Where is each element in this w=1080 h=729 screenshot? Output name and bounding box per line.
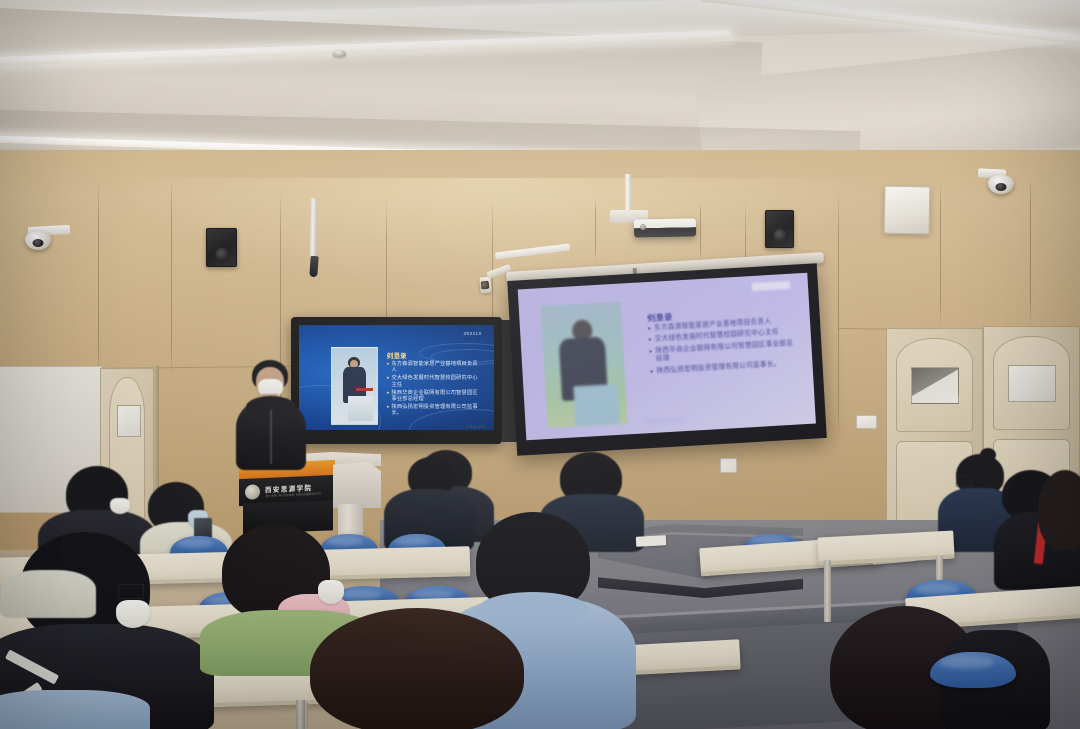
tv-slide-bullet-text: 陕西弘扬宏明投资管理有限公司监事长。 <box>392 404 483 416</box>
door-window <box>911 367 959 404</box>
eyeglasses-icon <box>118 584 144 599</box>
tv-slide-bullet-text: 陕西华商企业联网有限公司智慧园区事业部总经理 <box>392 390 483 402</box>
eyeglasses-icon <box>956 476 972 487</box>
projector-lens-icon <box>640 224 646 230</box>
audience-person <box>1030 470 1080 590</box>
person-face-mask <box>318 580 344 604</box>
tv-slide-bullet: ▸ 东方森源智能家居产业基地项目负责人 <box>387 361 483 373</box>
tv-slide-bullet-list: ▸ 刘垦录 ▸ 东方森源智能家居产业基地项目负责人 ▸ 交大绿色发展时代智慧校园… <box>387 353 483 419</box>
wall-seam <box>1030 176 1031 326</box>
person-hair <box>1038 470 1080 550</box>
bullet-marker-icon: ▸ <box>648 325 651 334</box>
bullet-marker-icon: ▸ <box>387 404 390 416</box>
person-face-mask <box>116 600 150 628</box>
chair-pedestal <box>296 700 305 729</box>
speaker-cone-icon <box>215 248 228 261</box>
tv-slide-bullet-text: 交大绿色发展时代智慧校园研究中心主任 <box>392 375 483 387</box>
tv-slide-bullet: ▸ 交大绿色发展时代智慧校园研究中心主任 <box>387 375 483 387</box>
tv-slide-bullet-text: 东方森源智能家居产业基地项目负责人 <box>392 361 483 373</box>
projected-photo <box>541 302 628 428</box>
bullet-marker-icon: ▸ <box>649 348 653 365</box>
tv-slide-heading-item: ▸ 刘垦录 <box>387 353 483 359</box>
projection-screen: ▸ 刘垦录 ▸ 东方森源智能家居产业基地项目负责人 ▸ 交大绿色发展时代智慧校园… <box>507 263 827 456</box>
projected-podium <box>573 384 619 426</box>
tv-screen: 20211X ▸ 刘垦录 ▸ 东方森源智能家居产业基地项目负责人 <box>299 325 494 430</box>
audience-person <box>0 690 140 729</box>
paper-sheet[interactable] <box>636 535 666 547</box>
door-window <box>1008 365 1056 402</box>
chair-highlight <box>915 584 960 595</box>
bullet-camera-icon <box>479 276 492 293</box>
camera-lens-icon <box>996 183 1007 191</box>
bullet-marker-icon: ▸ <box>387 361 390 373</box>
person-top <box>0 690 150 729</box>
smoke-detector-icon <box>333 50 346 57</box>
tv-slide-corner-label: 20211X <box>464 331 483 336</box>
wall-seam <box>171 178 172 378</box>
bullet-marker-icon: ▸ <box>650 367 653 376</box>
audience-person <box>310 608 530 729</box>
wall-seam <box>940 182 941 327</box>
photo-podium-accent <box>356 388 373 391</box>
speaker-cone-icon <box>773 229 786 242</box>
door-window <box>117 405 141 437</box>
audience-person <box>0 556 96 616</box>
wall-speaker-right-icon <box>765 210 794 248</box>
interactive-flat-panel[interactable]: 20211X ▸ 刘垦录 ▸ 东方森源智能家居产业基地项目负责人 <box>291 317 502 444</box>
projected-heading: 刘垦录 <box>647 313 672 323</box>
wall-speaker-left-icon <box>206 228 237 267</box>
chair[interactable] <box>930 652 1016 688</box>
university-seal-icon <box>245 484 260 500</box>
bullet-marker-icon: ▸ <box>387 390 390 402</box>
projected-corner-label <box>752 281 790 291</box>
presenter-zip-line <box>270 410 272 464</box>
tv-slide-heading: 刘垦录 <box>387 353 407 360</box>
tv-slide-photo <box>331 347 378 425</box>
person-hair-bun <box>980 448 996 462</box>
camera-lens-icon <box>33 239 44 247</box>
wall-control-box-icon[interactable] <box>884 186 931 235</box>
tv-brand-label: SEEWO <box>466 424 486 429</box>
microphone-drop-pole <box>309 198 317 258</box>
wall-seam <box>700 202 701 260</box>
lectern-right-body <box>333 462 381 508</box>
bullet-marker-icon: ▸ <box>649 336 652 345</box>
projected-footer-bar <box>643 416 683 425</box>
projected-bullet-list: ▸ 刘垦录 ▸ 东方森源智能家居产业基地项目负责人 ▸ 交大绿色发展时代智慧校园… <box>647 306 797 379</box>
microphone-head-icon <box>309 256 318 278</box>
person-hair <box>310 608 524 729</box>
person-face-mask <box>110 498 130 514</box>
wall-seam <box>595 200 596 260</box>
photo-podium <box>348 396 373 421</box>
chair-highlight <box>395 537 431 546</box>
tv-slide-bullet: ▸ 陕西华商企业联网有限公司智慧园区事业部总经理 <box>387 390 483 402</box>
tv-slide-bullet: ▸ 陕西弘扬宏明投资管理有限公司监事长。 <box>387 404 483 416</box>
presenter <box>228 360 314 470</box>
wall-seam <box>838 190 839 440</box>
projection-surface: ▸ 刘垦录 ▸ 东方森源智能家居产业基地项目负责人 ▸ 交大绿色发展时代智慧校园… <box>518 273 816 440</box>
wall-outlet[interactable] <box>720 458 737 473</box>
wall-switch-plate[interactable] <box>856 415 877 429</box>
camera-lens-icon <box>481 281 490 290</box>
chair-highlight <box>940 656 993 668</box>
wall-seam <box>98 182 99 382</box>
person-top <box>0 570 96 618</box>
lecture-hall-photo: 20211X ▸ 刘垦录 ▸ 东方森源智能家居产业基地项目负责人 <box>0 0 1080 729</box>
bullet-marker-icon: ▸ <box>387 375 390 387</box>
